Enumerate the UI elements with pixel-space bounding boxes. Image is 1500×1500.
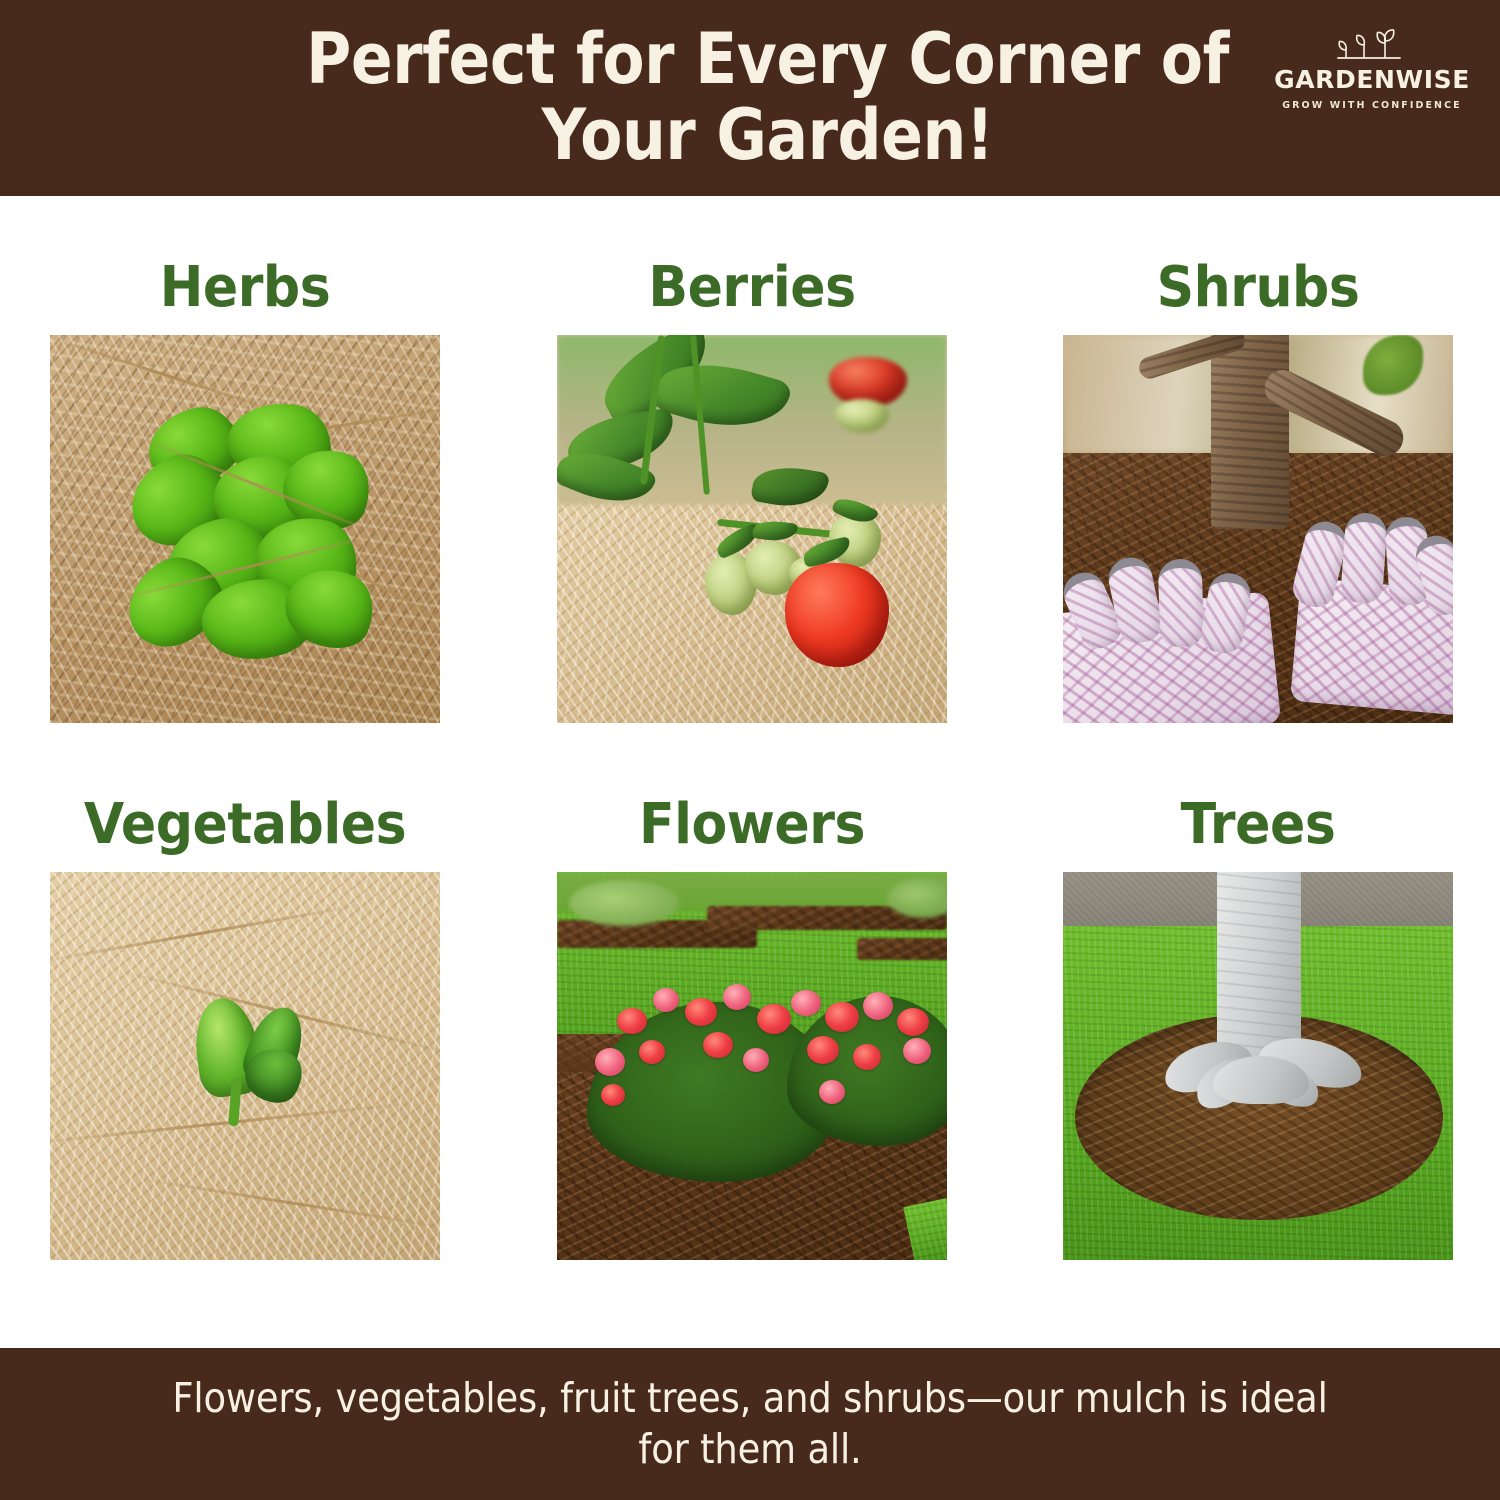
footer-tagline: Flowers, vegetables, fruit trees, and sh…: [161, 1373, 1340, 1476]
category-label-flowers: Flowers: [571, 777, 934, 872]
category-card-herbs: Herbs: [50, 240, 440, 723]
brand-logo: GARDENWISE GROW WITH CONFIDENCE: [1272, 26, 1472, 111]
category-label-shrubs: Shrubs: [1077, 240, 1440, 335]
category-label-berries: Berries: [571, 240, 934, 335]
category-card-vegetables: Vegetables: [50, 777, 440, 1260]
category-label-vegetables: Vegetables: [64, 777, 427, 872]
category-label-herbs: Herbs: [64, 240, 427, 335]
category-image-herbs: [50, 335, 440, 723]
marketing-infographic: Perfect for Every Corner of Your Garden!…: [0, 0, 1500, 1500]
category-image-trees: [1063, 872, 1453, 1260]
headline-line-2: Your Garden!: [275, 98, 1261, 174]
category-label-trees: Trees: [1077, 777, 1440, 872]
category-grid: Herbs: [50, 196, 1452, 1348]
page-headline: Perfect for Every Corner of Your Garden!: [240, 22, 1261, 173]
category-card-berries: Berries: [557, 240, 947, 723]
category-image-shrubs: [1063, 335, 1453, 723]
brand-tagline: GROW WITH CONFIDENCE: [1272, 100, 1472, 111]
category-card-shrubs: Shrubs: [1063, 240, 1453, 723]
footer-banner: Flowers, vegetables, fruit trees, and sh…: [0, 1348, 1500, 1500]
sprout-icon: [1272, 26, 1472, 62]
headline-line-1: Perfect for Every Corner of: [275, 22, 1261, 98]
category-image-vegetables: [50, 872, 440, 1260]
category-image-flowers: [557, 872, 947, 1260]
header-banner: Perfect for Every Corner of Your Garden!…: [0, 0, 1500, 196]
category-image-berries: [557, 335, 947, 723]
category-card-trees: Trees: [1063, 777, 1453, 1260]
brand-name: GARDENWISE: [1272, 65, 1472, 94]
category-card-flowers: Flowers: [557, 777, 947, 1260]
